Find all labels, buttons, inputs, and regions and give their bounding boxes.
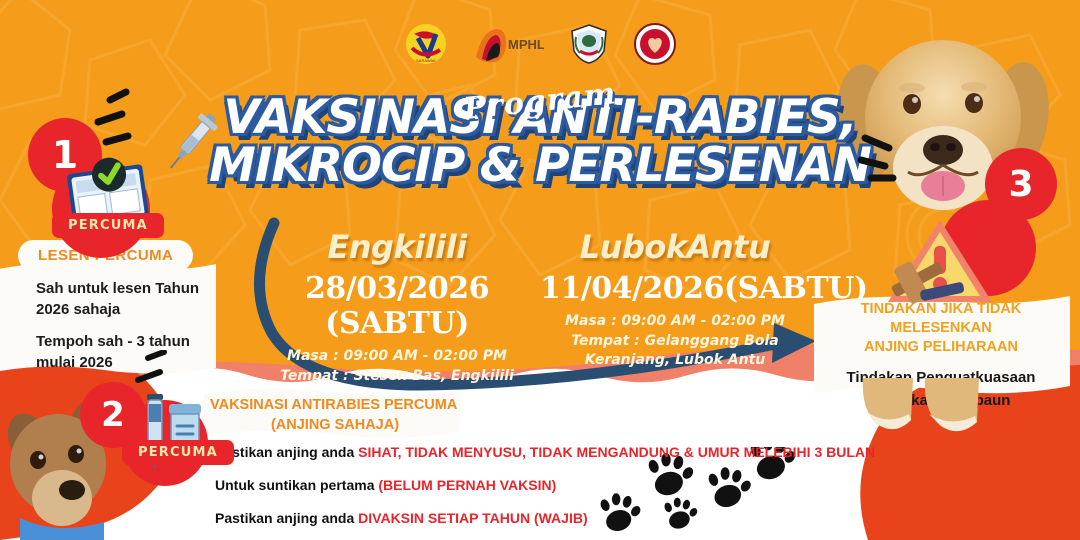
warning-gavel-icon — [880, 210, 1000, 315]
heart-health-logo — [634, 23, 676, 65]
bullet-2-plain: Untuk suntikan pertama — [215, 477, 378, 493]
bullet-2-highlight: (BELUM PERNAH VAKSIN) — [378, 477, 556, 493]
event-2-time: Masa : 09:00 AM - 02:00 PM — [540, 312, 810, 331]
event-engkilili: Engkilili 28/03/2026 (SABTU) Masa : 09:0… — [262, 228, 532, 386]
badge-1-percuma-pill: PERCUMA — [52, 213, 164, 238]
badge-2-percuma-pill: PERCUMA — [122, 440, 234, 465]
sarawak-state-logo: SARAWAK — [404, 22, 448, 66]
lesen-line-2: 2026 sahaja — [36, 299, 226, 320]
logo-row: SARAWAK MPHLG — [0, 22, 1080, 66]
svg-text:SARAWAK: SARAWAK — [416, 58, 436, 63]
lesen-line-1: Sah untuk lesen Tahun — [36, 278, 226, 299]
event-1-venue: Tempat : Stesen Bas, Engkilili — [262, 367, 532, 386]
bullet-item-3: Pastikan anjing anda DIVAKSIN SETIAP TAH… — [215, 510, 875, 526]
event-2-venue: Tempat : Gelanggang Bola — [540, 332, 810, 351]
lesen-line-3: Tempoh sah - 3 tahun — [36, 331, 226, 352]
bullet-list: Pastikan anjing anda SIHAT, TIDAK MENYUS… — [215, 444, 875, 540]
syringe-icon — [155, 105, 245, 190]
event-2-name: LubokAntu — [540, 228, 810, 266]
dog-paws-photo — [855, 378, 995, 448]
event-1-name: Engkilili — [262, 228, 532, 266]
badge-2-number: 2 — [101, 395, 125, 435]
bullet-3-highlight: DIVAKSIN SETIAP TAHUN (WAJIB) — [358, 510, 587, 526]
bullet-1-highlight: SIHAT, TIDAK MENYUSU, TIDAK MENGANDUNG &… — [358, 444, 875, 460]
vaksinasi-title-1: VAKSINASI ANTIRABIES PERCUMA — [210, 396, 460, 416]
bullet-item-1: Pastikan anjing anda SIHAT, TIDAK MENYUS… — [215, 444, 875, 460]
vaksinasi-card-text: VAKSINASI ANTIRABIES PERCUMA (ANJING SAH… — [210, 396, 460, 435]
event-2-date: 11/04/2026(SABTU) — [540, 271, 810, 306]
vaksinasi-title-2: (ANJING SAHAJA) — [210, 416, 460, 436]
mphlg-logo-text: MPHLG — [508, 37, 544, 52]
badge-3-number: 3 — [1008, 164, 1033, 205]
event-2-venue-2: Keranjang, Lubok Antu — [540, 351, 810, 370]
event-lubok-antu: LubokAntu 11/04/2026(SABTU) Masa : 09:00… — [540, 228, 810, 370]
poster-canvas: SARAWAK MPHLG — [0, 0, 1080, 540]
speed-lines-decor-3 — [855, 120, 935, 190]
enforcement-title-2: ANJING PELIHARAAN — [812, 338, 1070, 357]
event-1-time: Masa : 09:00 AM - 02:00 PM — [262, 347, 532, 366]
council-crest-logo — [568, 23, 610, 65]
event-1-date: 28/03/2026 (SABTU) — [262, 271, 532, 341]
bullet-item-2: Untuk suntikan pertama (BELUM PERNAH VAK… — [215, 477, 875, 493]
bullet-3-plain: Pastikan anjing anda — [215, 510, 358, 526]
bullet-1-plain: Pastikan anjing anda — [215, 444, 358, 460]
mphlg-logo: MPHLG — [472, 23, 544, 65]
